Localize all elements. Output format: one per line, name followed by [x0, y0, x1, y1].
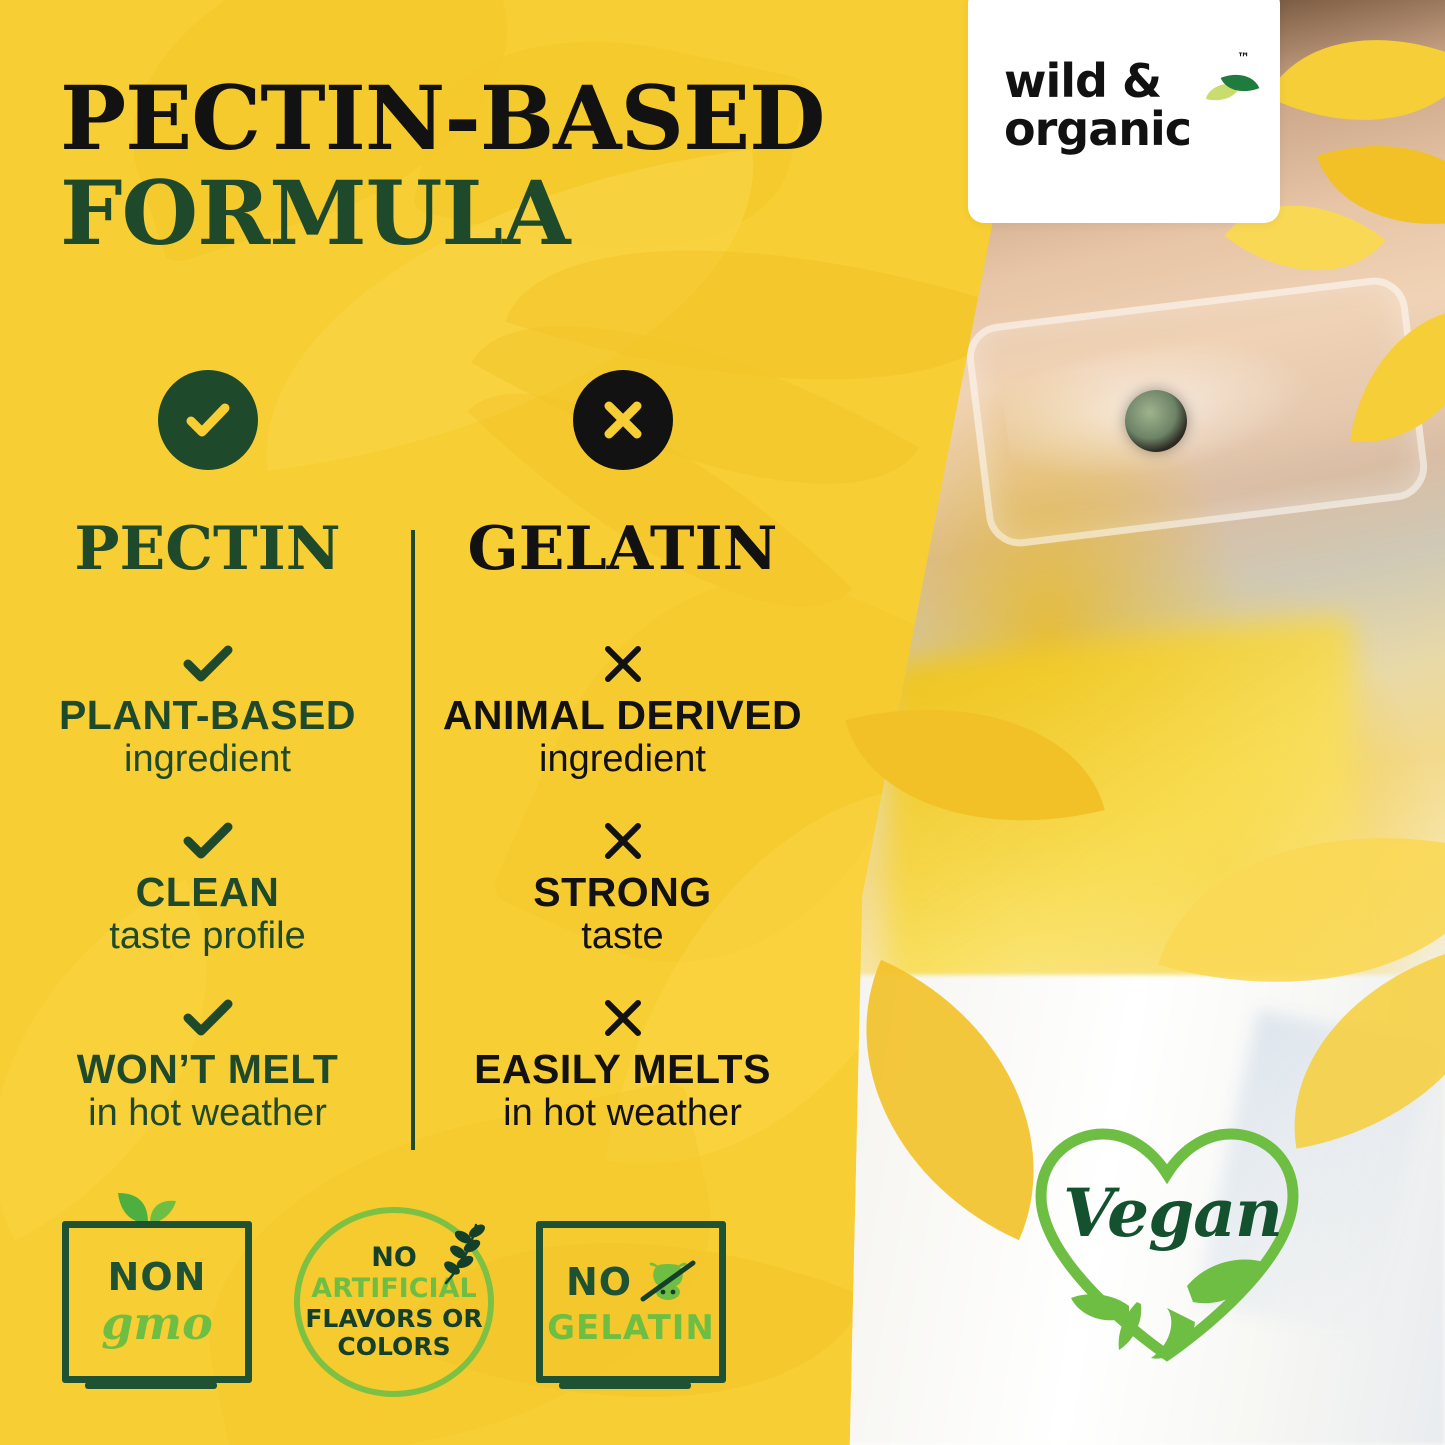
- headline-line-1: PECTIN-BASED: [60, 78, 825, 159]
- badge-line-1: NON: [108, 1258, 207, 1296]
- feature-item: CLEAN taste profile: [0, 819, 415, 958]
- x-icon: [415, 819, 830, 863]
- certification-badges: NON gmo NO ARTI: [62, 1207, 726, 1397]
- badge-circle-frame: NO ARTIFICIAL FLAVORS OR COLORS: [294, 1207, 494, 1397]
- feature-item: PLANT-BASED ingredient: [0, 642, 415, 781]
- vegan-badge: Vegan: [1017, 1110, 1317, 1375]
- feature-strong: PLANT-BASED: [0, 694, 415, 737]
- feature-list-gelatin: ANIMAL DERIVED ingredient STRONG taste: [415, 642, 830, 1135]
- check-circle-icon: [158, 370, 258, 470]
- feature-strong: WON’T MELT: [0, 1048, 415, 1091]
- feature-strong: EASILY MELTS: [415, 1048, 830, 1091]
- headline-line-2: FORMULA: [60, 173, 825, 254]
- vegan-label: Vegan: [1063, 1174, 1282, 1252]
- trademark-symbol: ™: [1237, 51, 1250, 66]
- x-icon: [415, 642, 830, 686]
- column-title-pectin: PECTIN: [0, 514, 415, 584]
- badge-line-1: NO: [566, 1263, 632, 1301]
- feature-item: EASILY MELTS in hot weather: [415, 996, 830, 1135]
- feature-sub: taste profile: [0, 916, 415, 958]
- column-title-gelatin: GELATIN: [415, 514, 830, 584]
- cow-crossed-out-icon: [640, 1259, 696, 1305]
- no-artificial-badge: NO ARTIFICIAL FLAVORS OR COLORS: [294, 1207, 494, 1397]
- feature-sub: in hot weather: [415, 1093, 830, 1135]
- infographic-canvas: ™ wild & organic PECTIN-BASED FORMULA PE…: [0, 0, 1445, 1445]
- non-gmo-badge: NON gmo: [62, 1221, 252, 1383]
- badge-line-2: gmo: [101, 1300, 213, 1346]
- feature-strong: CLEAN: [0, 871, 415, 914]
- feature-strong: ANIMAL DERIVED: [415, 694, 830, 737]
- badge-frame: NON gmo: [62, 1221, 252, 1383]
- badge-line-1: NO: [371, 1244, 417, 1272]
- safety-glasses: [963, 274, 1431, 550]
- column-pectin: PECTIN PLANT-BASED ingredient: [0, 370, 415, 1173]
- feature-list-pectin: PLANT-BASED ingredient CLEAN taste profi…: [0, 642, 415, 1135]
- check-icon: [0, 642, 415, 686]
- feature-sub: taste: [415, 916, 830, 958]
- brand-logo[interactable]: ™ wild & organic: [968, 0, 1280, 223]
- badge-line-3: FLAVORS OR: [305, 1306, 482, 1332]
- feature-sub: in hot weather: [0, 1093, 415, 1135]
- feature-item: STRONG taste: [415, 819, 830, 958]
- logo-line-2: organic: [1004, 107, 1244, 152]
- column-gelatin: GELATIN ANIMAL DERIVED ingredient: [415, 370, 830, 1173]
- feature-item: WON’T MELT in hot weather: [0, 996, 415, 1135]
- feature-item: ANIMAL DERIVED ingredient: [415, 642, 830, 781]
- leaf-pair-icon: [114, 1191, 180, 1225]
- feature-sub: ingredient: [415, 739, 830, 781]
- feature-strong: STRONG: [415, 871, 830, 914]
- headline: PECTIN-BASED FORMULA: [60, 78, 825, 254]
- badge-frame: NO GELATIN: [536, 1221, 726, 1383]
- badge-line-2: GELATIN: [547, 1311, 715, 1345]
- feature-sub: ingredient: [0, 739, 415, 781]
- sprig-icon: [432, 1219, 490, 1296]
- badge-line-4: COLORS: [337, 1334, 450, 1360]
- x-icon: [415, 996, 830, 1040]
- x-circle-icon: [573, 370, 673, 470]
- check-icon: [0, 819, 415, 863]
- no-gelatin-badge: NO GELATIN: [536, 1221, 726, 1383]
- comparison-section: PECTIN PLANT-BASED ingredient: [0, 370, 830, 1173]
- check-icon: [0, 996, 415, 1040]
